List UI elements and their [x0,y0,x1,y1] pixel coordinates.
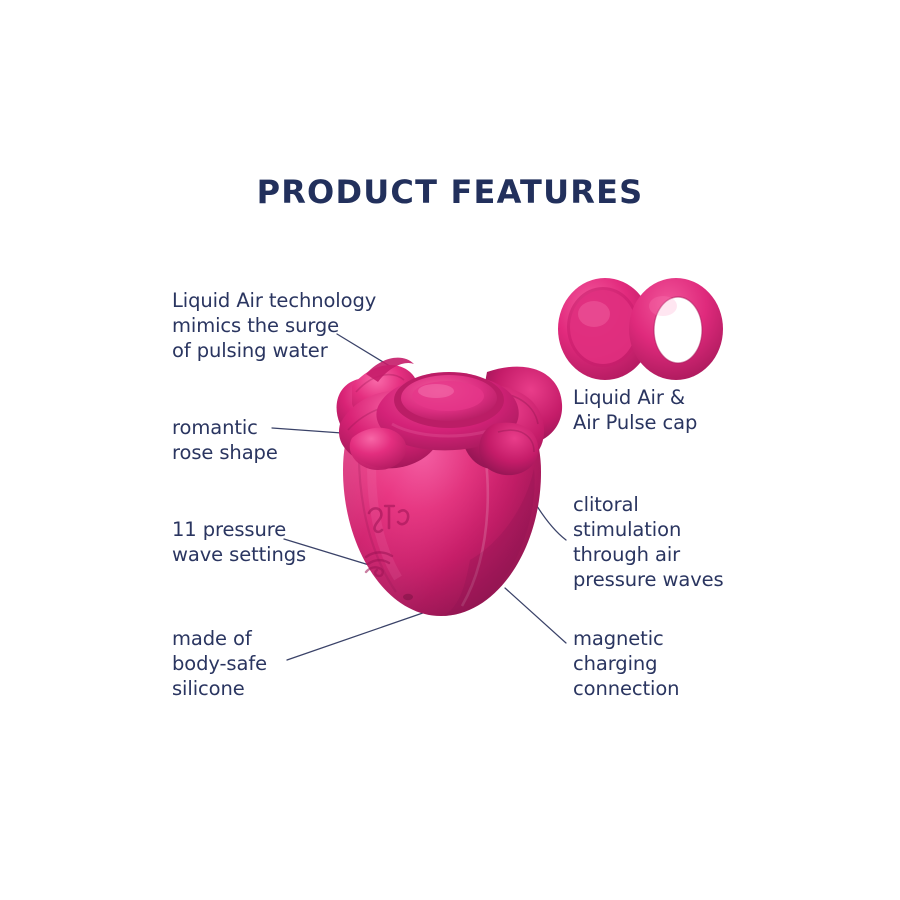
rose-device [337,358,563,616]
magnetic-charging-contact [403,594,413,600]
air-pulse-cap [629,278,723,380]
product-features-infographic: PRODUCT FEATURES Liquid Air technology m… [0,0,900,900]
leader-line-magnetic [505,588,566,643]
page-title: PRODUCT FEATURES [0,176,900,208]
callout-magnetic-charging-connection: magnetic charging connection [573,626,773,701]
callout-liquid-air-and-air-pulse-cap: Liquid Air & Air Pulse cap [573,385,793,435]
callout-liquid-air-technology: Liquid Air technology mimics the surge o… [172,288,402,363]
callout-romantic-rose-shape: romantic rose shape [172,415,362,465]
callout-pressure-wave-settings: 11 pressure wave settings [172,517,382,567]
product-illustration [0,0,900,900]
callout-clitoral-stimulation: clitoral stimulation through air pressur… [573,492,783,592]
accessory-caps [558,278,723,380]
callout-body-safe-silicone: made of body-safe silicone [172,626,362,701]
